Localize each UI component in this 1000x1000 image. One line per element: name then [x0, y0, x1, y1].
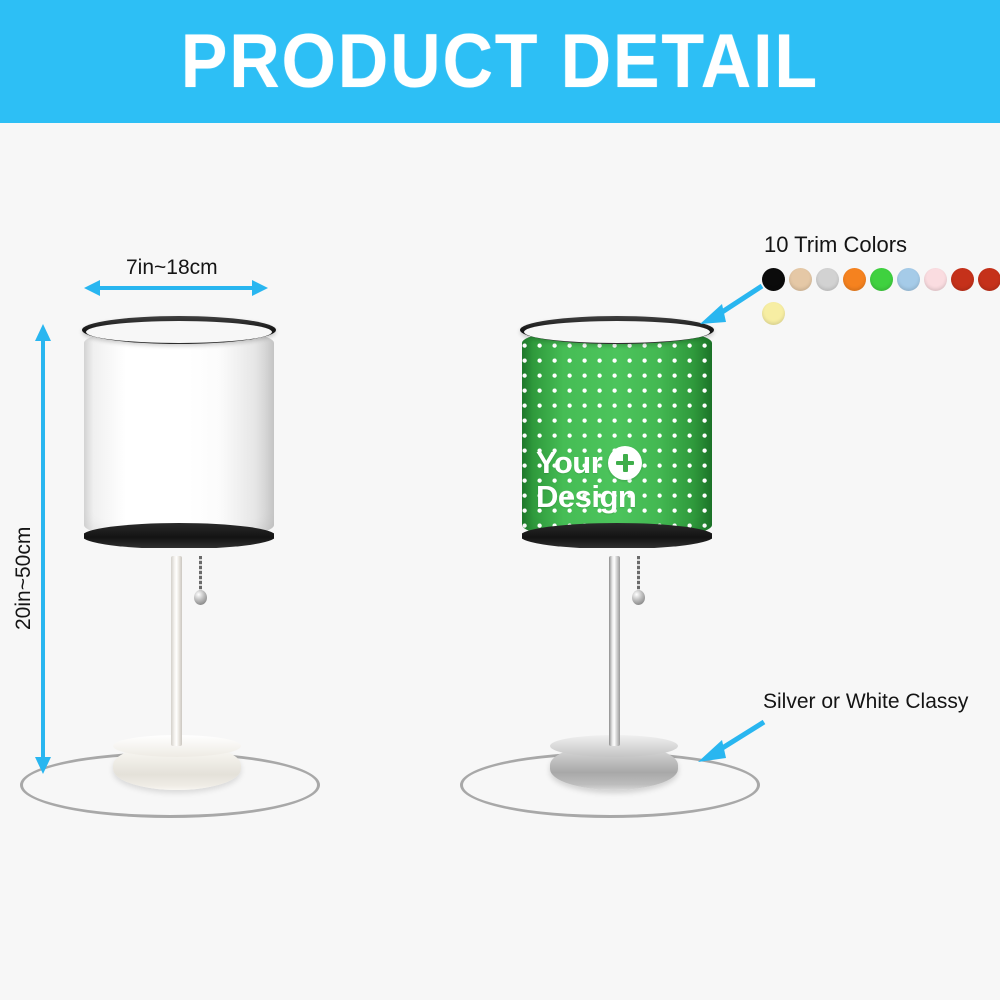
shade-surface — [84, 328, 274, 540]
swatch-dark-red[interactable] — [951, 268, 974, 291]
swatch-green[interactable] — [870, 268, 893, 291]
product-detail-page: PRODUCT DETAIL 7in~18cm 20in~50cm — [0, 0, 1000, 1000]
trim-colors-pointer-arrow — [700, 282, 768, 326]
white-lamp: 7in~18cm 20in~50cm — [0, 0, 500, 1000]
shade-trim-top-inner — [86, 321, 272, 343]
shade-trim-bottom — [84, 523, 274, 548]
pull-chain — [199, 556, 202, 594]
swatch-orange[interactable] — [843, 268, 866, 291]
shade-surface — [522, 328, 712, 540]
lamp-pole — [609, 556, 620, 746]
swatch-pink[interactable] — [924, 268, 947, 291]
swatch-light-gray[interactable] — [816, 268, 839, 291]
shade-trim-top-inner — [524, 321, 710, 343]
height-dimension-arrow — [32, 324, 54, 774]
swatch-rust[interactable] — [978, 268, 1000, 291]
lamp-shade-white — [84, 318, 274, 548]
lamp-pole — [171, 556, 182, 746]
swatch-tan[interactable] — [789, 268, 812, 291]
lamp-shade-green: Your Design — [522, 318, 712, 548]
custom-design-lamp: Your Design — [430, 0, 1000, 1000]
trim-colors-title: 10 Trim Colors — [764, 232, 907, 258]
swatch-light-blue[interactable] — [897, 268, 920, 291]
pull-chain — [637, 556, 640, 594]
pull-chain-ball — [194, 590, 207, 605]
width-dimension-arrow — [84, 276, 268, 300]
shade-trim-bottom — [522, 523, 712, 548]
base-finish-pointer-arrow — [696, 718, 770, 764]
pull-chain-ball — [632, 590, 645, 605]
base-finish-label: Silver or White Classy — [763, 690, 968, 714]
